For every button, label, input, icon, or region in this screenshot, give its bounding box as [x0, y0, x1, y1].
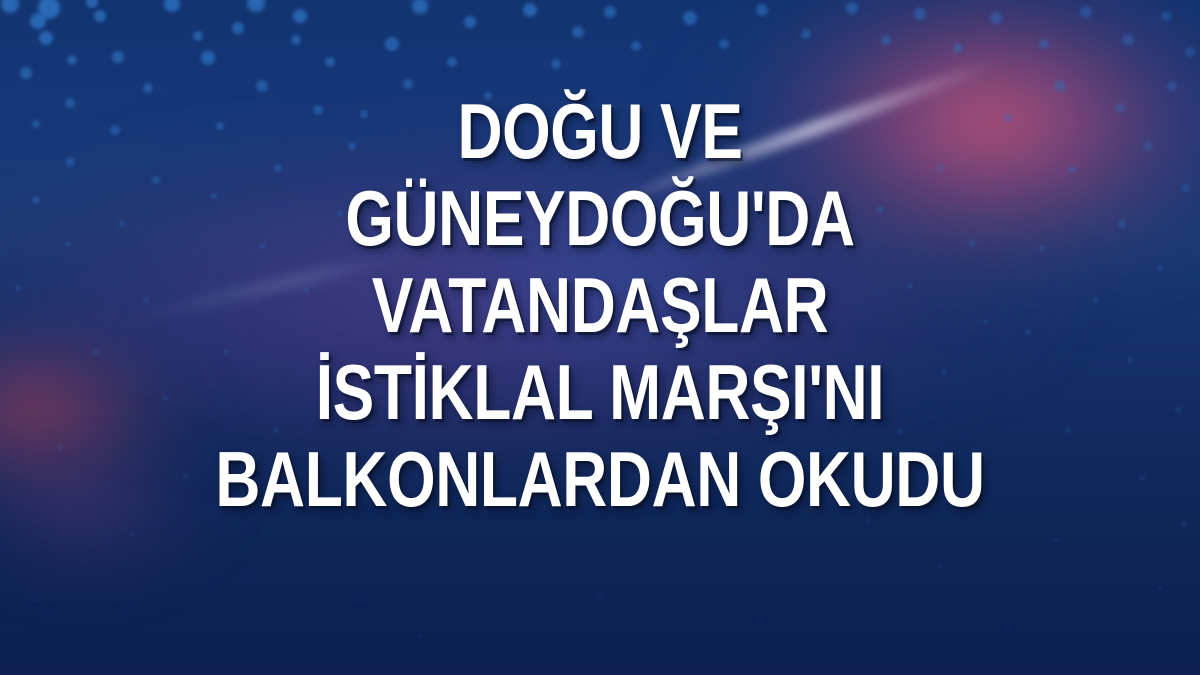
bokeh-dot: [1185, 47, 1195, 57]
bokeh-dot: [464, 16, 476, 28]
bokeh-dot: [32, 598, 36, 602]
bokeh-dot: [1080, 6, 1092, 18]
bokeh-dot: [20, 67, 32, 79]
bokeh-dot: [246, 574, 250, 578]
headline-line: BALKONLARDAN OKUDU: [136, 436, 1064, 523]
bokeh-dot: [758, 616, 762, 620]
bokeh-dot: [604, 6, 616, 18]
bokeh-dot: [598, 594, 602, 598]
bokeh-dot: [385, 37, 399, 51]
bokeh-dot: [293, 9, 307, 23]
headline-line: DOĞU VE: [136, 88, 1064, 175]
bokeh-dot: [914, 8, 926, 20]
bokeh-dot: [523, 3, 537, 17]
headline-line: GÜNEYDOĞU'DA: [136, 175, 1064, 262]
bokeh-dot: [846, 2, 858, 14]
bokeh-dot: [130, 532, 134, 536]
bokeh-dot: [39, 31, 53, 45]
bokeh-dot: [291, 35, 301, 45]
bokeh-dot: [551, 59, 561, 69]
bokeh-dot: [1, 0, 19, 13]
bokeh-dot: [953, 43, 963, 53]
bokeh-dot: [247, 0, 265, 12]
bokeh-dot: [86, 0, 98, 8]
headline: DOĞU VEGÜNEYDOĞU'DAVATANDAŞLARİSTİKLAL M…: [0, 88, 1200, 523]
bokeh-dot: [94, 10, 106, 22]
bokeh-dot: [418, 634, 422, 638]
bokeh-dot: [1158, 586, 1162, 590]
bokeh-dot: [1054, 538, 1058, 542]
bokeh-dot: [193, 31, 203, 41]
bokeh-dot: [67, 55, 77, 65]
news-banner: DOĞU VEGÜNEYDOĞU'DAVATANDAŞLARİSTİKLAL M…: [0, 0, 1200, 675]
bokeh-dot: [164, 0, 180, 12]
bokeh-dot: [1161, 11, 1171, 21]
headline-line: İSTİKLAL MARŞI'NI: [136, 349, 1064, 436]
bokeh-dot: [112, 51, 124, 63]
bokeh-dot: [1122, 34, 1134, 46]
bokeh-dot: [881, 35, 891, 45]
bokeh-dot: [1039, 39, 1049, 49]
bokeh-dot: [990, 12, 1002, 24]
bokeh-dot: [631, 41, 641, 51]
bokeh-dot: [358, 598, 362, 602]
bokeh-dot: [447, 57, 457, 67]
bokeh-dot: [30, 13, 46, 29]
bokeh-dot: [756, 4, 768, 16]
bokeh-dot: [572, 26, 584, 38]
bokeh-dot: [201, 51, 215, 65]
bokeh-dot: [683, 11, 697, 25]
bokeh-dot: [719, 39, 729, 49]
bokeh-dot: [801, 29, 811, 39]
bokeh-dot: [938, 564, 942, 568]
bokeh-dot: [232, 22, 244, 34]
bokeh-dot: [412, 0, 428, 14]
bokeh-dot: [1006, 626, 1010, 630]
bokeh-dot: [325, 57, 335, 67]
headline-line: VATANDAŞLAR: [136, 262, 1064, 349]
